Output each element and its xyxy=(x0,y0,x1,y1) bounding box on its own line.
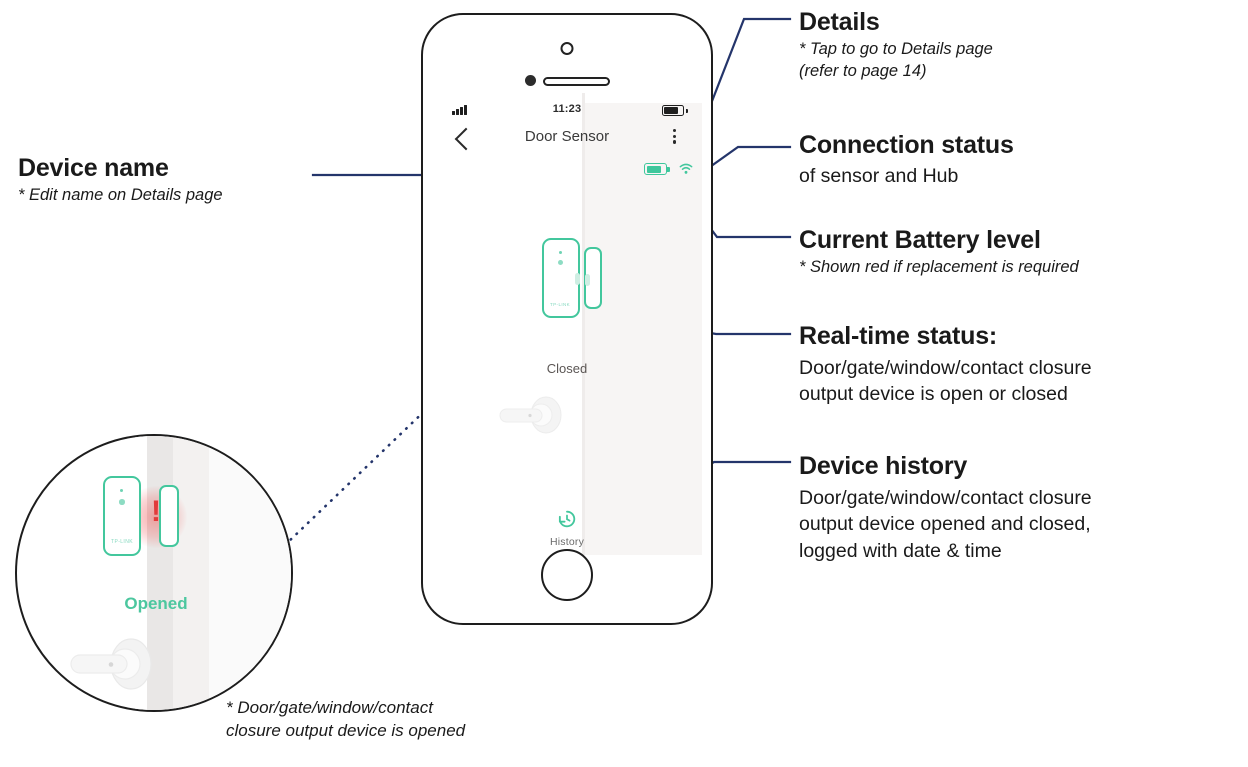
alert-exclamation-icon: ! xyxy=(149,498,163,526)
home-button[interactable] xyxy=(541,549,593,601)
annotation-device-history-body-2: logged with date & time xyxy=(799,538,1092,564)
status-bar: 11:23 xyxy=(432,103,702,121)
magnifier-sensor-brand-label: TP-LINK xyxy=(111,539,133,545)
magnifier-sensor-led-small xyxy=(120,489,123,492)
battery-level-icon xyxy=(644,163,667,175)
magnifier-door-sensor-icon: TP-LINK ! xyxy=(103,476,185,558)
connection-status-row xyxy=(432,161,702,183)
sensor-brand-label: TP-LINK xyxy=(550,302,570,307)
annotation-battery-level-sub-0: * Shown red if replacement is required xyxy=(799,257,1079,279)
magnifier-door-panel-c xyxy=(209,436,293,712)
wifi-signal-icon xyxy=(677,161,695,177)
realtime-status-label: Closed xyxy=(432,361,702,376)
door-sensor-icon: TP-LINK xyxy=(542,238,606,320)
magnifier-caption-line-0: * Door/gate/window/contact xyxy=(226,696,465,719)
sensor-led-small xyxy=(559,251,562,254)
annotation-realtime-status: Real-time status: Door/gate/window/conta… xyxy=(799,322,1092,408)
status-bar-battery-tip xyxy=(686,109,688,113)
annotation-device-history-body-1: output device opened and closed, xyxy=(799,511,1092,537)
three-dot-menu-icon[interactable] xyxy=(673,129,676,144)
proximity-sensor-icon xyxy=(525,75,536,86)
sensor-magnet-notch xyxy=(585,274,590,286)
annotation-details: Details * Tap to go to Details page (ref… xyxy=(799,8,993,83)
front-camera-icon xyxy=(561,42,574,55)
sensor-body: TP-LINK xyxy=(542,238,580,318)
annotation-device-name: Device name * Edit name on Details page xyxy=(18,154,223,207)
annotation-device-history-body-0: Door/gate/window/contact closure xyxy=(799,485,1092,511)
annotation-realtime-status-body-0: Door/gate/window/contact closure xyxy=(799,355,1092,381)
history-clock-icon xyxy=(556,508,578,530)
sensor-magnet xyxy=(584,247,602,309)
magnifier-sensor-led-large xyxy=(119,499,125,505)
annotation-connection-status-body-0: of sensor and Hub xyxy=(799,163,1014,189)
app-navbar: Door Sensor xyxy=(432,129,702,159)
sensor-body-notch xyxy=(575,273,580,285)
page-title: Door Sensor xyxy=(525,128,609,145)
magnifier-sensor-body: TP-LINK xyxy=(103,476,141,556)
status-bar-battery-icon xyxy=(662,105,684,116)
phone-screen: 11:23 Door Sensor xyxy=(432,93,702,555)
annotation-connection-status-heading: Connection status xyxy=(799,131,1014,159)
annotation-device-name-sub-0: * Edit name on Details page xyxy=(18,185,223,207)
annotation-realtime-status-heading: Real-time status: xyxy=(799,322,1092,350)
annotation-connection-status: Connection status of sensor and Hub xyxy=(799,131,1014,189)
annotation-realtime-status-body-1: output device is open or closed xyxy=(799,381,1092,407)
magnifier-circle: TP-LINK ! Opened xyxy=(15,434,293,712)
history-button-label: History xyxy=(432,536,702,548)
phone-mockup: 11:23 Door Sensor xyxy=(421,13,713,625)
diagram-stage: Device name * Edit name on Details page … xyxy=(0,0,1248,767)
annotation-battery-level-heading: Current Battery level xyxy=(799,226,1079,254)
magnifier-status-label: Opened xyxy=(17,594,293,614)
magnifier-caption: * Door/gate/window/contact closure outpu… xyxy=(226,696,465,742)
history-button[interactable]: History xyxy=(432,508,702,548)
earpiece-speaker-icon xyxy=(543,77,610,86)
annotation-battery-level: Current Battery level * Shown red if rep… xyxy=(799,226,1079,279)
battery-level-icon-tip xyxy=(667,167,670,172)
annotation-details-heading: Details xyxy=(799,8,993,36)
annotation-device-name-heading: Device name xyxy=(18,154,223,182)
annotation-device-history: Device history Door/gate/window/contact … xyxy=(799,452,1092,564)
back-chevron-icon[interactable] xyxy=(455,128,478,151)
magnifier-caption-line-1: closure output device is opened xyxy=(226,719,465,742)
annotation-device-history-heading: Device history xyxy=(799,452,1092,480)
sensor-led-large xyxy=(558,260,563,265)
signal-bars-icon xyxy=(452,104,467,115)
magnifier-door-handle-icon xyxy=(65,634,161,694)
annotation-details-sub-1: (refer to page 14) xyxy=(799,61,993,83)
annotation-details-sub-0: * Tap to go to Details page xyxy=(799,39,993,61)
door-handle-icon xyxy=(494,393,566,437)
status-bar-time: 11:23 xyxy=(553,103,582,115)
